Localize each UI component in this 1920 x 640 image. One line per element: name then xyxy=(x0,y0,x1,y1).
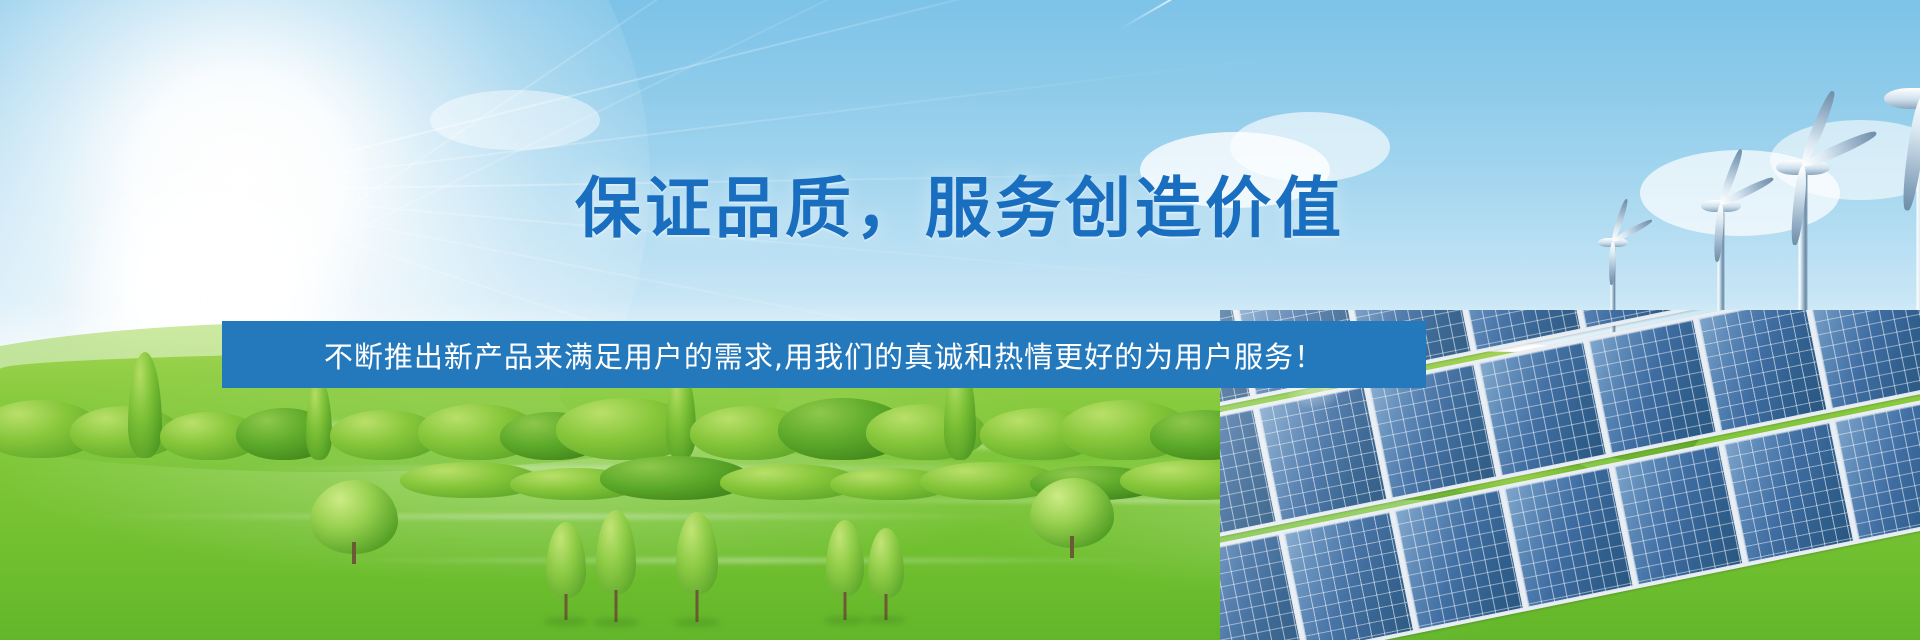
tree-crown xyxy=(868,528,904,598)
promo-banner: 保证品质，服务创造价值 不断推出新产品来满足用户的需求,用我们的真诚和热情更好的… xyxy=(0,0,1920,640)
sapling-icon xyxy=(676,512,718,622)
sapling-icon xyxy=(868,528,904,620)
solar-cell-panel xyxy=(1698,310,1827,432)
sapling-icon xyxy=(826,520,864,620)
subtitle-text: 不断推出新产品来满足用户的需求,用我们的真诚和热情更好的为用户服务！ xyxy=(324,334,1324,376)
solar-cell-panel xyxy=(1723,422,1853,563)
tree-crown xyxy=(676,512,718,594)
sapling-icon xyxy=(546,522,586,620)
tree-shadow xyxy=(593,618,639,627)
solar-cell-panel xyxy=(1503,467,1633,608)
cloud-icon xyxy=(430,90,600,150)
solar-cell-panel xyxy=(1283,511,1413,640)
mow-stripe xyxy=(300,558,1200,563)
tree-crown xyxy=(826,520,864,596)
tree-trunk xyxy=(1070,536,1074,558)
round-tree-icon xyxy=(310,480,398,554)
tree-shadow xyxy=(866,616,906,624)
mow-stripe xyxy=(60,514,1060,519)
tree-shadow xyxy=(674,618,720,627)
tree-crown xyxy=(596,510,636,594)
solar-cell-panel xyxy=(1258,386,1387,521)
solar-cell-panel xyxy=(1393,489,1523,630)
subtitle-banner: 不断推出新产品来满足用户的需求,用我们的真诚和热情更好的为用户服务！ xyxy=(222,321,1426,388)
solar-cell-panel xyxy=(1808,310,1920,409)
solar-cell-panel xyxy=(1478,341,1607,476)
turbine-nacelle xyxy=(1884,88,1920,109)
tree-shadow xyxy=(544,617,588,626)
tree-crown xyxy=(546,522,586,598)
tree-trunk xyxy=(352,542,356,564)
round-tree-icon xyxy=(1030,478,1114,548)
tree-shadow xyxy=(824,616,866,625)
page-title: 保证品质，服务创造价值 xyxy=(0,176,1920,242)
sapling-icon xyxy=(596,510,636,622)
solar-cell-panel xyxy=(1613,444,1743,585)
solar-cell-panel xyxy=(1588,319,1717,454)
